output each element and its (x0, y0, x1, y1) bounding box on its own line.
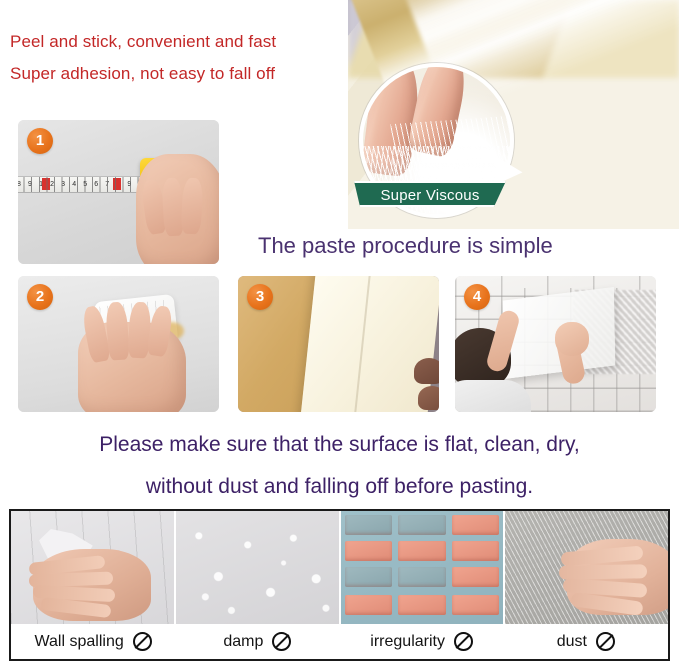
prohibition-icon (454, 632, 473, 651)
procedure-heading: The paste procedure is simple (258, 232, 553, 260)
damp-water-droplets (176, 511, 339, 624)
brick (398, 541, 446, 561)
warning-image-damp (176, 511, 341, 624)
spalling-wall-art (11, 511, 174, 624)
step1-tape-measure-blade: 8 9 1 2 3 4 5 6 7 8 9 1 2 3 (18, 176, 146, 193)
notice-line-2: without dust and falling off before past… (0, 466, 679, 508)
brick-row-4 (341, 595, 504, 615)
step4-palm (555, 322, 589, 356)
step1-finger-3 (181, 178, 204, 235)
irregular-brick-art (341, 511, 504, 624)
brick-row-1 (341, 515, 504, 535)
hero-adhesive-photo: Super Viscous (348, 0, 679, 229)
step-badge-2: 2 (27, 284, 53, 310)
dust-finger-2 (559, 564, 647, 580)
step-badge-1: 1 (27, 128, 53, 154)
warning-label-damp: damp (175, 632, 339, 651)
brick-row-2 (341, 541, 504, 561)
warning-label-dust: dust (504, 632, 668, 651)
warning-text-irregularity: irregularity (370, 633, 445, 651)
step-card-4: 4 (455, 276, 656, 412)
surface-notice: Please make sure that the surface is fla… (0, 424, 679, 508)
super-viscous-banner: Super Viscous (354, 181, 506, 207)
warning-image-dust (505, 511, 668, 624)
warning-image-irregularity (341, 511, 506, 624)
brick (398, 595, 446, 615)
step-badge-4: 4 (464, 284, 490, 310)
warning-image-row (11, 511, 668, 624)
warning-text-dust: dust (557, 633, 587, 651)
brick (452, 595, 500, 615)
warning-label-wall-spalling: Wall spalling (11, 632, 175, 651)
step3-finger-2 (418, 386, 439, 410)
warning-panel: Wall spalling damp irregularity dust (9, 509, 670, 661)
headline-block: Peel and stick, convenient and fast Supe… (10, 26, 350, 90)
dusty-wall-art (505, 511, 668, 624)
warning-image-wall-spalling (11, 511, 176, 624)
step-card-3: 3 (238, 276, 439, 412)
prohibition-icon (596, 632, 615, 651)
prohibition-icon (272, 632, 291, 651)
brick (398, 515, 446, 535)
step1-tape-ticks (18, 177, 146, 192)
brick (345, 567, 393, 587)
step-card-2: 2 (18, 276, 219, 412)
brick (398, 567, 446, 587)
brick (345, 515, 393, 535)
prohibition-icon (133, 632, 152, 651)
damp-wall-art (176, 511, 339, 624)
brick (345, 541, 393, 561)
infographic-stage: Peel and stick, convenient and fast Supe… (0, 0, 679, 670)
warning-text-damp: damp (223, 633, 263, 651)
headline-line-1: Peel and stick, convenient and fast (10, 26, 350, 58)
brick-row-3 (341, 567, 504, 587)
step-card-1: 8 9 1 2 3 4 5 6 7 8 9 1 2 3 1 (18, 120, 219, 264)
step3-finger-1 (414, 358, 439, 384)
warning-label-irregularity: irregularity (340, 632, 504, 651)
notice-line-1: Please make sure that the surface is fla… (0, 424, 679, 466)
step3-foam-panel (299, 276, 439, 412)
step4-person-body (455, 380, 531, 412)
brick (452, 541, 500, 561)
step-badge-3: 3 (247, 284, 273, 310)
brick (345, 595, 393, 615)
warning-text-wall-spalling: Wall spalling (35, 633, 124, 651)
brick (452, 567, 500, 587)
brick (452, 515, 500, 535)
headline-line-2: Super adhesion, not easy to fall off (10, 58, 350, 90)
warning-label-row: Wall spalling damp irregularity dust (11, 624, 668, 659)
